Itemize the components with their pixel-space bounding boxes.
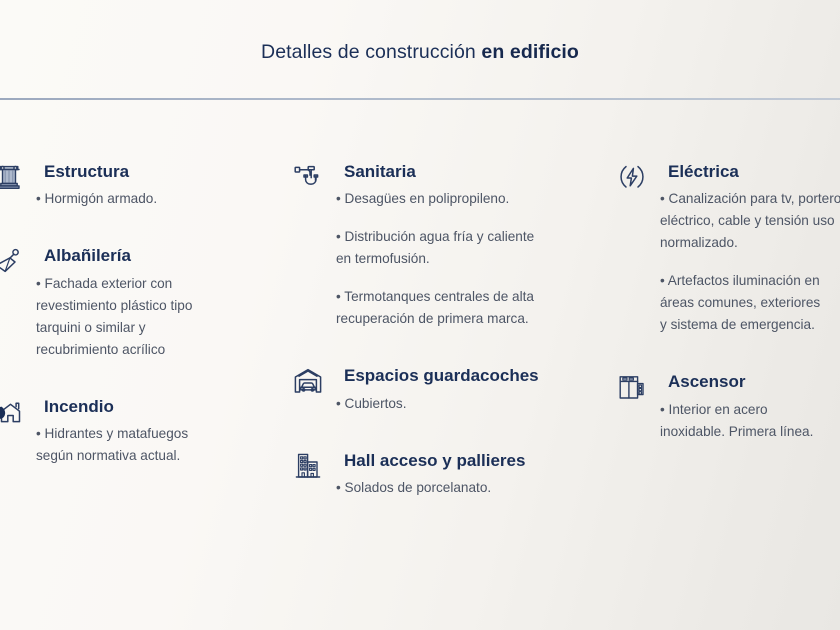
column-pillar-icon bbox=[0, 160, 26, 194]
section-bullets: Hormigón armado. bbox=[36, 188, 283, 210]
section-bullets: Canalización para tv, portero eléctrico,… bbox=[660, 188, 840, 336]
section-title: Ascensor bbox=[668, 372, 840, 392]
section-bullets: Hidrantes y matafuegos según normativa a… bbox=[36, 423, 283, 467]
trowel-icon bbox=[0, 244, 26, 278]
section-hall-acceso-pallieres: Hall acceso y pallieres Solados de porce… bbox=[288, 451, 605, 499]
column-middle: Sanitaria Desagües en polipropileno. Dis… bbox=[283, 162, 605, 521]
lightning-bolt-icon bbox=[615, 160, 649, 194]
bullet-item: Termotanques centrales de alta recuperac… bbox=[336, 286, 605, 330]
bullet-item: Distribución agua fría y caliente en ter… bbox=[336, 226, 605, 270]
section-title: Incendio bbox=[44, 397, 283, 417]
page-title: Detalles de construcción en edificio bbox=[261, 41, 579, 64]
section-title: Estructura bbox=[44, 162, 283, 182]
bullet-item: Solados de porcelanato. bbox=[336, 477, 605, 499]
section-bullets: Cubiertos. bbox=[336, 393, 605, 415]
bullet-item: Cubiertos. bbox=[336, 393, 605, 415]
details-columns: Estructura Hormigón armado. Albañilería bbox=[0, 100, 840, 521]
section-sanitaria: Sanitaria Desagües en polipropileno. Dis… bbox=[288, 162, 605, 330]
section-espacios-guardacoches: Espacios guardacoches Cubiertos. bbox=[288, 366, 605, 414]
construction-details-page: Detalles de construcción en edificio bbox=[0, 0, 840, 630]
section-estructura: Estructura Hormigón armado. bbox=[0, 162, 283, 210]
section-ascensor: Ascensor Interior en acero inoxidable. P… bbox=[610, 372, 840, 442]
section-title: Eléctrica bbox=[668, 162, 840, 182]
section-title: Espacios guardacoches bbox=[344, 366, 605, 386]
section-bullets: Desagües en polipropileno. Distribución … bbox=[336, 188, 605, 330]
section-title: Albañilería bbox=[44, 246, 283, 266]
column-left: Estructura Hormigón armado. Albañilería bbox=[0, 162, 283, 521]
bullet-item: Fachada exterior con revestimiento plást… bbox=[36, 273, 283, 361]
page-title-strong: en edificio bbox=[481, 41, 579, 63]
page-title-normal: Detalles de construcción bbox=[261, 41, 481, 63]
bullet-item: Canalización para tv, portero eléctrico,… bbox=[660, 188, 840, 254]
buildings-icon bbox=[291, 449, 325, 483]
section-albanileria: Albañilería Fachada exterior con revesti… bbox=[0, 246, 283, 360]
column-right: Eléctrica Canalización para tv, portero … bbox=[605, 162, 840, 521]
house-fire-icon bbox=[0, 395, 26, 429]
page-header: Detalles de construcción en edificio bbox=[0, 0, 840, 98]
section-bullets: Interior en acero inoxidable. Primera lí… bbox=[660, 399, 840, 443]
section-bullets: Fachada exterior con revestimiento plást… bbox=[36, 273, 283, 361]
elevator-icon bbox=[615, 370, 649, 404]
section-incendio: Incendio Hidrantes y matafuegos según no… bbox=[0, 397, 283, 467]
bullet-item: Hidrantes y matafuegos según normativa a… bbox=[36, 423, 283, 467]
header-divider bbox=[0, 98, 840, 100]
bullet-item: Hormigón armado. bbox=[36, 188, 283, 210]
section-bullets: Solados de porcelanato. bbox=[336, 477, 605, 499]
bullet-item: Artefactos iluminación en áreas comunes,… bbox=[660, 270, 840, 336]
bullet-item: Interior en acero inoxidable. Primera lí… bbox=[660, 399, 840, 443]
section-title: Sanitaria bbox=[344, 162, 605, 182]
pipe-trap-icon bbox=[291, 160, 325, 194]
garage-car-icon bbox=[291, 364, 325, 398]
section-electrica: Eléctrica Canalización para tv, portero … bbox=[610, 162, 840, 336]
bullet-item: Desagües en polipropileno. bbox=[336, 188, 605, 210]
section-title: Hall acceso y pallieres bbox=[344, 451, 605, 471]
